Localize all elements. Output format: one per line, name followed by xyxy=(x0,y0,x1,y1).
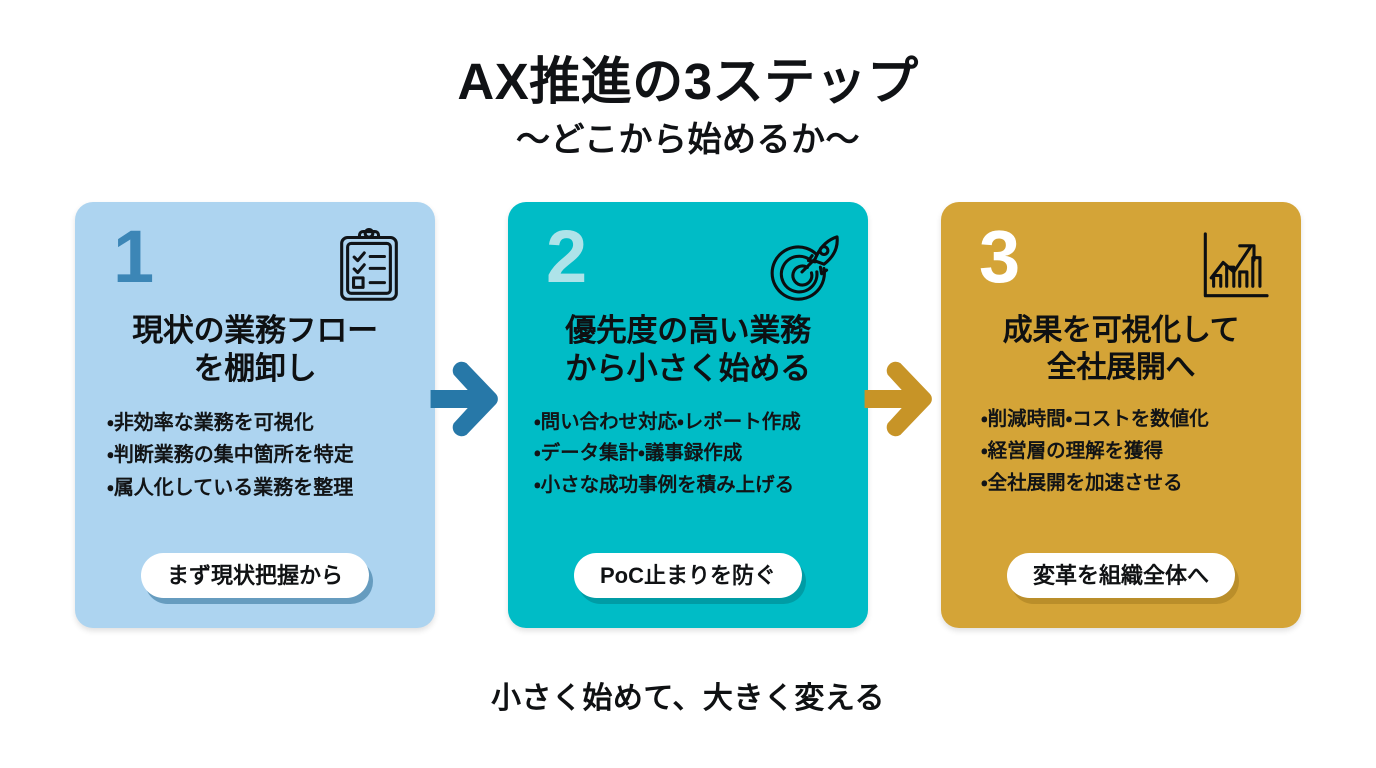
step-heading-2-line-2: から小さく始める xyxy=(528,350,848,388)
clipboard-checklist-icon xyxy=(331,228,407,304)
list-item: 小さな成功事例を積み上げる xyxy=(534,470,848,502)
step-heading-1-line-1: 現状の業務フロー xyxy=(95,312,415,350)
step-heading-2: 優先度の高い業務 から小さく始める xyxy=(528,312,848,389)
step-heading-3: 成果を可視化して 全社展開へ xyxy=(961,312,1281,386)
arrow-step2-to-step3-icon xyxy=(862,358,944,440)
list-item: 削減時間・コストを数値化 xyxy=(981,404,1281,436)
step-pill-wrap-2: PoC止まりを防ぐ xyxy=(528,553,848,599)
card-3-top: 3 xyxy=(961,224,1281,310)
step-number-1: 1 xyxy=(113,220,153,294)
step-heading-3-line-2: 全社展開へ xyxy=(961,349,1281,386)
rocket-target-icon xyxy=(764,228,840,304)
footer-caption: 小さく始めて、大きく変える xyxy=(0,673,1376,717)
infographic-root: AX推進の3ステップ 〜どこから始めるか〜 1 xyxy=(0,0,1376,768)
card-2-top: 2 xyxy=(528,224,848,310)
list-item: 問い合わせ対応・レポート作成 xyxy=(534,407,848,439)
step-bullets-3: 削減時間・コストを数値化 経営層の理解を獲得 全社展開を加速させる xyxy=(961,404,1281,499)
step-badge-1[interactable]: まず現状把握から xyxy=(141,553,369,599)
page-subtitle: 〜どこから始めるか〜 xyxy=(0,122,1376,159)
step-heading-2-line-1: 優先度の高い業務 xyxy=(528,312,848,350)
list-item: 属人化している業務を整理 xyxy=(107,472,415,504)
step-heading-3-line-1: 成果を可視化して xyxy=(961,312,1281,349)
step-badge-3[interactable]: 変革を組織全体へ xyxy=(1007,553,1235,599)
list-item: 経営層の理解を獲得 xyxy=(981,436,1281,468)
step-pill-wrap-1: まず現状把握から xyxy=(95,553,415,599)
step-card-1[interactable]: 1 現状の業務フ xyxy=(75,202,435,628)
step-bullets-1: 非効率な業務を可視化 判断業務の集中箇所を特定 属人化している業務を整理 xyxy=(95,407,415,504)
step-badge-2[interactable]: PoC止まりを防ぐ xyxy=(574,553,802,599)
arrow-step1-to-step2-icon xyxy=(428,358,510,440)
growth-chart-icon xyxy=(1197,228,1273,304)
list-item: 判断業務の集中箇所を特定 xyxy=(107,439,415,471)
list-item: データ集計・議事録作成 xyxy=(534,438,848,470)
step-card-3[interactable]: 3 成果を可視化して 全社展開へ xyxy=(941,202,1301,628)
header: AX推進の3ステップ 〜どこから始めるか〜 xyxy=(0,54,1376,159)
step-bullets-2: 問い合わせ対応・レポート作成 データ集計・議事録作成 小さな成功事例を積み上げる xyxy=(528,407,848,502)
list-item: 全社展開を加速させる xyxy=(981,468,1281,500)
step-number-2: 2 xyxy=(546,220,586,294)
step-pill-wrap-3: 変革を組織全体へ xyxy=(961,553,1281,599)
step-number-3: 3 xyxy=(979,220,1019,294)
step-heading-1-line-2: を棚卸し xyxy=(95,350,415,388)
card-1-top: 1 xyxy=(95,224,415,310)
step-heading-1: 現状の業務フロー を棚卸し xyxy=(95,312,415,389)
page-title: AX推進の3ステップ xyxy=(0,54,1376,110)
step-card-2[interactable]: 2 優先度の高い業務 から小さく始める xyxy=(508,202,868,628)
list-item: 非効率な業務を可視化 xyxy=(107,407,415,439)
steps-container: 1 現状の業務フ xyxy=(75,202,1301,628)
